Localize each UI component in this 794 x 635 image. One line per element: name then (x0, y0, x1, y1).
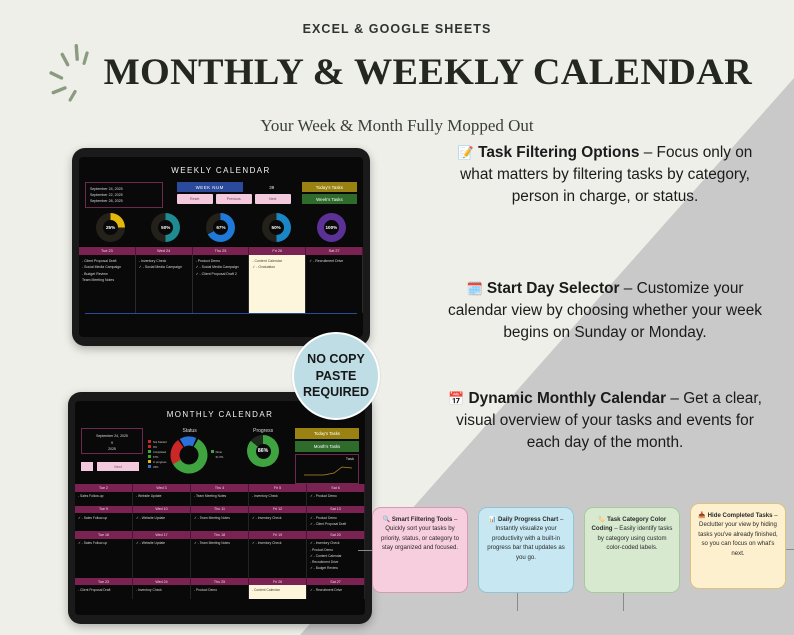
weekly-week-nav: WEEK NUM 39 Reset Previous Next (167, 182, 298, 208)
monthly-task-item[interactable]: ✓ - Sales Follow-up (78, 515, 129, 521)
monthly-task-item[interactable]: - Inventory Check (136, 587, 187, 593)
progress-donut-value: 86% (258, 448, 268, 454)
monthly-date-line-1: September 24, 2025 (82, 433, 142, 440)
monthly-day-header[interactable]: Fri 19 (249, 531, 307, 539)
weekly-weeknum-row: WEEK NUM 39 (177, 182, 298, 192)
todays-tasks-tag[interactable]: Today's Tasks (302, 182, 357, 192)
monthly-day-header[interactable]: Thu 25 (191, 578, 249, 586)
monthly-nav-buttons: Next (81, 462, 143, 471)
monthly-task-item[interactable]: ✓ - Client Proposal Draft (310, 521, 361, 527)
monthly-day-cell[interactable]: - Team Meeting Notes (191, 492, 249, 506)
weekly-controls-bar: September 24, 2025 September 22, 2025 Se… (79, 182, 363, 208)
monthly-day-cell[interactable]: ✓ - Website Update (133, 539, 191, 578)
feature-dynamic-monthly-calendar: 📅 Dynamic Monthly Calendar – Get a clear… (446, 388, 764, 454)
title-row: MONTHLY & WEEKLY CALENDAR (0, 42, 794, 104)
burst-decoration-icon (48, 42, 106, 104)
status-legend-label: 33% (153, 466, 158, 469)
monthly-day-header[interactable]: Fri 12 (249, 506, 307, 514)
progress-donut-chart: 86% (247, 435, 279, 467)
weekly-task-item[interactable]: ✓ - Social Media Campaign (139, 264, 189, 270)
weekly-day-header[interactable]: Wed 24 (136, 247, 193, 255)
monthly-week-header-row: Tue 23Wed 24Thu 25Fri 26Sat 27 (75, 578, 365, 586)
card-1-title: Smart Filtering Tools (392, 516, 453, 523)
monthly-task-item[interactable]: - Inventory Check (252, 493, 303, 499)
weekly-day-header[interactable]: Thu 25 (193, 247, 250, 255)
weekly-donut-5-value: 100% (325, 225, 337, 230)
inbox-tray-icon: 📥 (698, 512, 706, 519)
monthly-day-header[interactable]: Sat 13 (307, 506, 365, 514)
monthly-day-header[interactable]: Sat 6 (307, 484, 365, 492)
weekly-day-header-row: Tue 23Wed 24Thu 25Fri 26Sat 27 (79, 246, 363, 255)
monthly-day-header[interactable]: Wed 17 (133, 531, 191, 539)
weekly-task-item[interactable]: Team Meeting Notes (82, 277, 132, 283)
status-legend-label: Completed (153, 451, 166, 454)
monthly-task-item[interactable]: ✓ - Budget Review (310, 565, 361, 571)
legend-swatch-icon (148, 440, 151, 443)
monthly-task-item[interactable]: - Website Update (136, 493, 187, 499)
monthly-day-header[interactable]: Wed 24 (133, 578, 191, 586)
feature-start-day-selector: 🗓️ Start Day Selector – Customize your c… (446, 278, 764, 344)
monthly-day-header[interactable]: Thu 4 (191, 484, 249, 492)
no-copy-paste-badge: NO COPY PASTE REQUIRED (292, 332, 380, 420)
weekly-day-body-row: - Client Proposal Draft- Social Media Ca… (79, 255, 363, 313)
card-daily-progress-chart: 📊 Daily Progress Chart – Instantly visua… (478, 507, 574, 593)
status-chart-label: Status (148, 428, 231, 434)
page-header: EXCEL & GOOGLE SHEETS MONTHLY & WEEKLY C… (0, 0, 794, 136)
monthly-day-cell[interactable]: - Client Proposal Draft (75, 585, 133, 599)
monthly-todays-tasks-tag[interactable]: Today's Tasks (295, 428, 359, 439)
legend-swatch-icon (148, 450, 151, 453)
weekly-donut-4-value: 50% (272, 225, 281, 230)
monthly-day-cell[interactable]: ✓ - Inventory Check (249, 539, 307, 578)
weekly-date-range-box: September 24, 2025 September 22, 2025 Se… (85, 182, 163, 208)
magnifier-icon: 🔍 (383, 516, 391, 523)
monthly-day-cell[interactable]: - Inventory Check (133, 585, 191, 599)
previous-button[interactable]: Previous (216, 194, 252, 204)
feature-1-title: Task Filtering Options (478, 144, 639, 161)
monthly-day-header[interactable]: Tue 2 (75, 484, 133, 492)
weekly-day-cell[interactable]: - Product Demo✓ - Social Media Campaign✓… (193, 255, 250, 313)
monthly-next-button[interactable]: Next (97, 462, 139, 471)
card-2-title: Daily Progress Chart (498, 516, 558, 523)
feature-task-filtering: 📝 Task Filtering Options – Focus only on… (446, 142, 764, 208)
connector-card-4 (786, 549, 794, 550)
weekly-calendar-device-mockup: WEEKLY CALENDAR September 24, 2025 Septe… (72, 148, 370, 346)
monthly-day-cell[interactable]: ✓ - Website Update (133, 513, 191, 531)
feature-2-title: Start Day Selector (487, 280, 620, 297)
monthly-day-header[interactable]: Fri 5 (249, 484, 307, 492)
weekly-donut-4: 50% (262, 213, 291, 242)
monthly-task-item[interactable]: ✓ - Inventory Check (252, 515, 303, 521)
monthly-week-body-row: - Sales Follow-up- Website Update- Team … (75, 492, 365, 506)
monthly-day-cell[interactable]: ✓ - Product Demo (307, 492, 365, 506)
monthly-task-item[interactable]: ✓ - Recruitment Drive (310, 587, 361, 593)
status-legend-item: 33% (148, 465, 167, 470)
weekly-day-cell[interactable]: - Inventory Check✓ - Social Media Campai… (136, 255, 193, 313)
monthly-week-header-row: Tue 16Wed 17Thu 18Fri 19Sat 20 (75, 531, 365, 539)
monthly-side-panel: Today's Tasks Month's Tasks Task (295, 428, 359, 484)
weekly-day-cell[interactable]: ✓ - Recruitment Drive (306, 255, 363, 313)
weekly-donut-3-value: 67% (216, 225, 225, 230)
progress-chart-label: Progress (236, 428, 290, 434)
label-icon: 🏷️ (598, 516, 606, 523)
weekly-day-header[interactable]: Sat 27 (306, 247, 363, 255)
monthly-day-header[interactable]: Thu 11 (191, 506, 249, 514)
monthly-task-item[interactable]: - Content Calendar (252, 587, 303, 593)
card-smart-filtering-tools: 🔍 Smart Filtering Tools – Quickly sort y… (372, 507, 468, 593)
status-legend-label: In progress (153, 461, 166, 464)
monthly-task-item[interactable]: ✓ - Inventory Check (252, 540, 303, 546)
monthly-task-item[interactable]: ✓ - Website Update (136, 515, 187, 521)
weekly-donut-2-value: 50% (161, 225, 170, 230)
weekly-day-cell[interactable]: - Content Calendar✓ - Ovaluation (249, 255, 306, 313)
monthly-day-cell[interactable]: ✓ - Team Meeting Notes (191, 539, 249, 578)
status-legend-label: 67% (153, 456, 158, 459)
weekly-day-header[interactable]: Fri 26 (249, 247, 306, 255)
weekly-calendar-screen: WEEKLY CALENDAR September 24, 2025 Septe… (79, 157, 363, 337)
monthly-day-header[interactable]: Fri 26 (249, 578, 307, 586)
legend-swatch-icon (148, 465, 151, 468)
monthly-day-cell[interactable]: - Product Demo (191, 585, 249, 599)
status-legend-label: Not Started (153, 441, 167, 444)
weekly-task-item[interactable]: ✓ - Recruitment Drive (309, 258, 359, 264)
weekly-day-header[interactable]: Tue 23 (79, 247, 136, 255)
monthly-day-header[interactable]: Tue 9 (75, 506, 133, 514)
done-legend-label: Done (216, 451, 222, 454)
monthly-day-cell[interactable]: ✓ - Inventory Check- Product Demo✓ - Con… (307, 539, 365, 578)
page-subtitle: Your Week & Month Fully Mopped Out (0, 116, 794, 136)
monthly-day-cell[interactable]: ✓ - Sales Follow-up (75, 539, 133, 578)
card-task-category-color-coding: 🏷️ Task Category Color Coding – Easily i… (584, 507, 680, 593)
connector-card-2 (517, 593, 518, 611)
monthly-day-header[interactable]: Tue 23 (75, 578, 133, 586)
monthly-task-trend-panel: Task (295, 454, 359, 484)
monthly-week-header-row: Tue 2Wed 3Thu 4Fri 5Sat 6 (75, 484, 365, 492)
monthly-color-swatch[interactable] (81, 462, 93, 471)
weekly-date-3: September 28, 2025 (90, 198, 158, 204)
legend-swatch-icon (148, 455, 151, 458)
card-4-title: Hide Completed Tasks (708, 512, 773, 519)
eyebrow-text: EXCEL & GOOGLE SHEETS (0, 22, 794, 36)
next-button[interactable]: Next (255, 194, 291, 204)
page-title: MONTHLY & WEEKLY CALENDAR (104, 53, 752, 92)
badge-line-3: REQUIRED (303, 384, 369, 401)
monthly-day-cell[interactable]: - Website Update (133, 492, 191, 506)
monthly-task-item[interactable]: ✓ - Team Meeting Notes (194, 515, 245, 521)
legend-swatch-icon (148, 445, 151, 448)
monthly-day-header[interactable]: Wed 3 (133, 484, 191, 492)
legend-swatch-icon (148, 460, 151, 463)
badge-line-1: NO COPY (307, 351, 365, 368)
monthly-task-item[interactable]: ✓ - Sales Follow-up (78, 540, 129, 546)
monthly-day-cell[interactable]: ✓ - Product Demo✓ - Client Proposal Draf… (307, 513, 365, 531)
monthly-week-body-row: ✓ - Sales Follow-up✓ - Website Update✓ -… (75, 539, 365, 578)
weeks-tasks-tag[interactable]: Week's Tasks (302, 194, 357, 204)
monthly-week-body-row: ✓ - Sales Follow-up✓ - Website Update✓ -… (75, 513, 365, 531)
connector-card-1 (358, 550, 373, 551)
week-num-label: WEEK NUM (177, 182, 243, 192)
weekly-donut-3: 67% (206, 213, 235, 242)
week-num-value: 39 (246, 182, 298, 192)
monthly-months-tasks-tag[interactable]: Month's Tasks (295, 441, 359, 452)
weekly-button-row: Reset Previous Next (177, 194, 298, 204)
done-legend: Done 61.5% (211, 450, 224, 460)
monthly-task-item[interactable]: - Sales Follow-up (78, 493, 129, 499)
monthly-task-item[interactable]: - Client Proposal Draft (78, 587, 129, 593)
status-donut-chart (169, 435, 209, 475)
weekly-donut-1-value: 25% (106, 225, 115, 230)
monthly-day-header[interactable]: Tue 16 (75, 531, 133, 539)
monthly-task-item[interactable]: ✓ - Team Meeting Notes (194, 540, 245, 546)
monthly-day-header[interactable]: Wed 10 (133, 506, 191, 514)
weekly-donut-5: 100% (317, 213, 346, 242)
monthly-day-cell[interactable]: ✓ - Recruitment Drive (307, 585, 365, 599)
monthly-day-cell[interactable]: - Sales Follow-up (75, 492, 133, 506)
weekly-progress-donuts: 25%50%67%50%100% (79, 208, 363, 246)
monthly-day-cell[interactable]: - Content Calendar (249, 585, 307, 599)
card-hide-completed-tasks: 📥 Hide Completed Tasks – Declutter your … (690, 503, 786, 589)
memo-icon: 📝 (458, 145, 474, 160)
monthly-task-item[interactable]: ✓ - Product Demo (310, 493, 361, 499)
monthly-date-line-2: 9 (82, 440, 142, 447)
weekly-task-item[interactable]: ✓ - Client Proposal Draft 2 (196, 271, 246, 277)
monthly-calendar-device-mockup: MONTHLY CALENDAR September 24, 2025 9 20… (68, 392, 372, 624)
calendar-icon: 🗓️ (466, 281, 482, 296)
weekly-filter-tags: Today's Tasks Week's Tasks (302, 182, 357, 208)
monthly-date-line-3: 2025 (82, 446, 142, 453)
weekly-task-item[interactable]: ✓ - Social Media Campaign (196, 264, 246, 270)
monthly-week-body-row: - Client Proposal Draft- Inventory Check… (75, 585, 365, 599)
feature-3-title: Dynamic Monthly Calendar (469, 390, 667, 407)
monthly-day-header[interactable]: Sat 20 (307, 531, 365, 539)
bar-chart-icon: 📊 (489, 516, 497, 523)
weekly-donut-1: 25% (96, 213, 125, 242)
monthly-task-item[interactable]: ✓ - Website Update (136, 540, 187, 546)
reset-button[interactable]: Reset (177, 194, 213, 204)
monthly-day-cell[interactable]: - Inventory Check (249, 492, 307, 506)
monthly-week-grid: Tue 2Wed 3Thu 4Fri 5Sat 6- Sales Follow-… (75, 484, 365, 599)
status-chart-legend: Not Started0%Completed67%In progress33% (148, 440, 167, 471)
connector-card-3 (623, 593, 624, 611)
monthly-day-cell[interactable]: ✓ - Team Meeting Notes (191, 513, 249, 531)
weekly-divider-line (85, 313, 357, 314)
monthly-dashboard-row: September 24, 2025 9 2025 Next Status No… (75, 426, 365, 484)
badge-line-2: PASTE (316, 368, 357, 385)
monthly-week-header-row: Tue 9Wed 10Thu 11Fri 12Sat 13 (75, 506, 365, 514)
weekly-day-cell[interactable]: - Client Proposal Draft- Social Media Ca… (79, 255, 136, 313)
monthly-day-cell[interactable]: ✓ - Sales Follow-up (75, 513, 133, 531)
done-legend-value: 61.5% (216, 456, 224, 459)
weekly-donut-2: 50% (151, 213, 180, 242)
monthly-day-header[interactable]: Sat 27 (307, 578, 365, 586)
task-trend-sparkline (296, 461, 358, 479)
monthly-calendar-screen: MONTHLY CALENDAR September 24, 2025 9 20… (75, 401, 365, 615)
weekly-sheet-title: WEEKLY CALENDAR (79, 157, 363, 182)
status-legend-label: 0% (153, 446, 157, 449)
monthly-task-item[interactable]: - Product Demo (194, 587, 245, 593)
calendar-date-icon: 📅 (448, 391, 464, 406)
monthly-day-header[interactable]: Thu 18 (191, 531, 249, 539)
monthly-task-item[interactable]: - Team Meeting Notes (194, 493, 245, 499)
weekly-task-item[interactable]: ✓ - Ovaluation (252, 264, 302, 270)
monthly-day-cell[interactable]: ✓ - Inventory Check (249, 513, 307, 531)
monthly-date-box: September 24, 2025 9 2025 (81, 428, 143, 454)
